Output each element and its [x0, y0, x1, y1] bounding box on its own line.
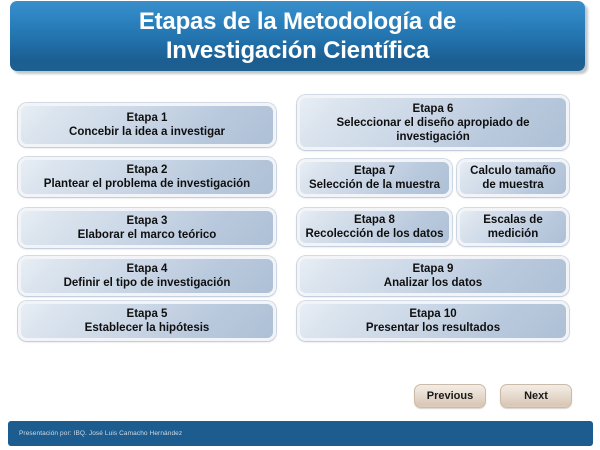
footer-credit: Presentación por: IBQ. José Luis Camacho…	[8, 430, 182, 437]
stage-box-etapa-5[interactable]: Etapa 5 Establecer la hipótesis	[18, 301, 276, 341]
stage-description: Analizar los datos	[384, 276, 482, 290]
side-box-escalas-de-medicion[interactable]: Escalas de medición	[457, 208, 569, 246]
stage-box-etapa-7[interactable]: Etapa 7 Selección de la muestra	[297, 159, 452, 197]
stage-description: Establecer la hipótesis	[85, 321, 210, 335]
stage-box-etapa-2[interactable]: Etapa 2 Plantear el problema de investig…	[18, 157, 276, 197]
stage-title: Etapa 10	[409, 307, 456, 321]
stage-title: Etapa 1	[127, 111, 168, 125]
stage-description: Seleccionar el diseño apropiado de inves…	[326, 116, 541, 144]
side-box-line-2: medición	[488, 227, 538, 241]
stage-title: Etapa 8	[354, 213, 395, 227]
stage-title: Etapa 7	[354, 164, 395, 178]
stage-box-etapa-6[interactable]: Etapa 6 Seleccionar el diseño apropiado …	[297, 95, 569, 150]
previous-button[interactable]: Previous	[414, 384, 486, 408]
side-box-line-1: Escalas de	[483, 213, 542, 227]
stage-title: Etapa 6	[413, 102, 454, 116]
stages-diagram: Etapa 1 Concebir la idea a investigar Et…	[0, 0, 600, 450]
stage-box-etapa-3[interactable]: Etapa 3 Elaborar el marco teórico	[18, 208, 276, 248]
side-box-calculo-tamano-de-muestra[interactable]: Calculo tamaño de muestra	[457, 159, 569, 197]
side-box-line-2: de muestra	[482, 178, 543, 192]
stage-title: Etapa 9	[413, 262, 454, 276]
stage-description: Recolección de los datos	[305, 227, 443, 241]
stage-description: Elaborar el marco teórico	[78, 228, 217, 242]
side-box-line-1: Calculo tamaño	[470, 164, 556, 178]
stage-title: Etapa 4	[127, 262, 168, 276]
stage-description: Selección de la muestra	[309, 178, 440, 192]
stage-box-etapa-4[interactable]: Etapa 4 Definir el tipo de investigación	[18, 256, 276, 296]
stage-description: Definir el tipo de investigación	[64, 276, 231, 290]
stage-description: Concebir la idea a investigar	[69, 125, 225, 139]
stage-title: Etapa 5	[127, 307, 168, 321]
stage-title: Etapa 2	[127, 163, 168, 177]
stage-box-etapa-1[interactable]: Etapa 1 Concebir la idea a investigar	[18, 103, 276, 147]
stage-description: Plantear el problema de investigación	[44, 177, 250, 191]
stage-box-etapa-10[interactable]: Etapa 10 Presentar los resultados	[297, 301, 569, 341]
stage-description: Presentar los resultados	[366, 321, 500, 335]
stage-title: Etapa 3	[127, 214, 168, 228]
footer-bar: Presentación por: IBQ. José Luis Camacho…	[8, 421, 593, 446]
stage-box-etapa-9[interactable]: Etapa 9 Analizar los datos	[297, 256, 569, 296]
stage-box-etapa-8[interactable]: Etapa 8 Recolección de los datos	[297, 208, 452, 246]
next-button[interactable]: Next	[500, 384, 572, 408]
